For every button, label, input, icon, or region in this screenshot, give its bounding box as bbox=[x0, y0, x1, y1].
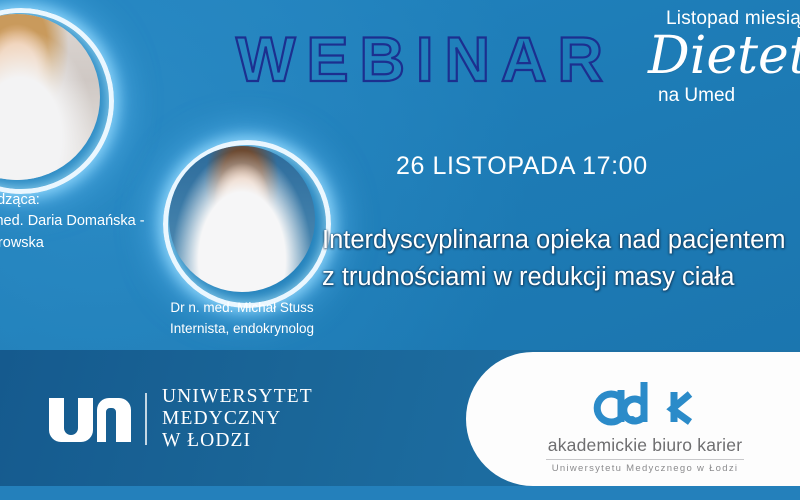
header-script-word: Dietetyki bbox=[648, 32, 800, 81]
speaker-role-label: Prowadząca: bbox=[0, 190, 146, 211]
university-name: UNIWERSYTET MEDYCZNY W ŁODZI bbox=[162, 386, 313, 451]
header-subtitle-text: na Umed bbox=[658, 85, 800, 107]
speaker-specialty: Internista, endokrynolog bbox=[118, 319, 366, 340]
speaker-photo-michal-stuss bbox=[169, 146, 315, 292]
career-office-logo: akademickie biuro karier Uniwersytetu Me… bbox=[540, 378, 750, 474]
university-name-line1: UNIWERSYTET bbox=[162, 386, 313, 408]
logo-divider bbox=[145, 393, 147, 445]
speaker-caption-1: Prowadząca: Dr n. med. Daria Domańska - … bbox=[0, 190, 146, 254]
webinar-poster: Listopad miesiącem Dietetyki na Umed WEB… bbox=[0, 0, 800, 500]
portrait-image-2 bbox=[169, 146, 315, 292]
abk-monogram-icon bbox=[540, 378, 750, 432]
speaker-name: Dr n. med. Michał Stuss bbox=[118, 298, 366, 319]
event-topic-line2: z trudnościami w redukcji masy ciała bbox=[322, 259, 800, 296]
speaker-caption-2: Dr n. med. Michał Stuss Internista, endo… bbox=[118, 298, 366, 340]
header-block: Listopad miesiącem Dietetyki na Umed bbox=[612, 8, 800, 107]
abk-rule-divider bbox=[546, 459, 744, 460]
career-office-name: akademickie biuro karier bbox=[540, 435, 750, 456]
um-monogram-svg bbox=[47, 396, 131, 442]
event-date-time: 26 LISTOPADA 17:00 bbox=[396, 152, 648, 181]
footer-bottom-strip bbox=[0, 486, 800, 500]
university-name-line2: MEDYCZNY bbox=[162, 408, 313, 430]
university-name-line3: W ŁODZI bbox=[162, 430, 313, 452]
speaker-name-line1: Dr n. med. Daria Domańska - bbox=[0, 211, 146, 232]
career-office-subtitle: Uniwersytetu Medycznego w Łodzi bbox=[540, 463, 750, 474]
page-title: WEBINAR bbox=[236, 24, 614, 96]
abk-monogram-svg bbox=[586, 378, 704, 432]
university-logo: UNIWERSYTET MEDYCZNY W ŁODZI bbox=[47, 386, 313, 451]
event-topic-line1: Interdyscyplinarna opieka nad pacjentem bbox=[322, 222, 800, 259]
um-monogram-icon bbox=[47, 396, 131, 442]
event-topic: Interdyscyplinarna opieka nad pacjentem … bbox=[322, 222, 800, 295]
speaker-name-line2: Senderowska bbox=[0, 233, 146, 254]
